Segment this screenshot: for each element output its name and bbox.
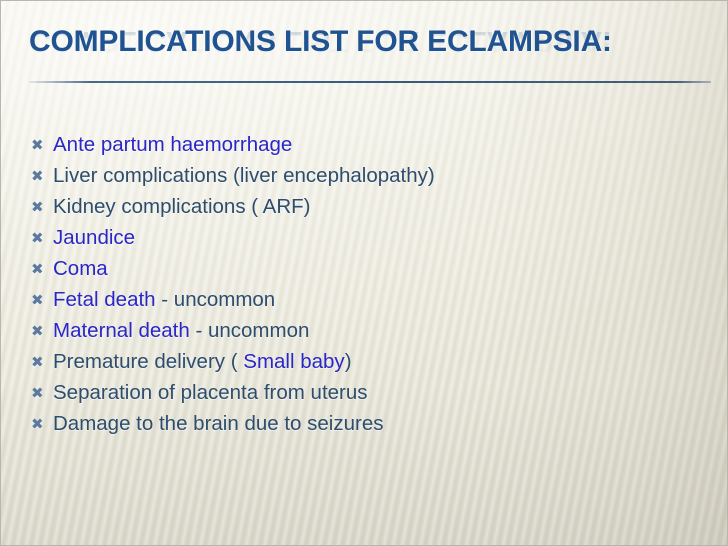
bullet-star-icon: ✖ [31,131,53,159]
list-item: ✖Fetal death - uncommon [31,286,691,317]
list-item-text-segment: Kidney complications ( ARF) [53,195,310,218]
list-item-text-segment: Premature delivery ( [53,350,243,373]
list-item-label: Maternal death - uncommon [53,317,691,345]
list-item: ✖Kidney complications ( ARF) [31,193,691,224]
list-item-label: Liver complications (liver encephalopath… [53,162,691,190]
list-item-text-segment: Ante partum haemorrhage [53,133,292,156]
slide-title-block: COMPLICATIONS LIST FOR ECLAMPSIA: COMPLI… [29,25,701,87]
list-item-text-segment: Small baby [243,350,344,373]
bullet-star-icon: ✖ [31,410,53,438]
title-underline-rule [29,81,711,83]
list-item-text-segment: Fetal death [53,288,156,311]
list-item-text-segment: ) [345,350,352,373]
list-item: ✖Liver complications (liver encephalopat… [31,162,691,193]
list-item-text-segment: Jaundice [53,226,135,249]
list-item-label: Coma [53,255,691,283]
list-item-label: Kidney complications ( ARF) [53,193,691,221]
list-item: ✖Damage to the brain due to seizures [31,410,691,441]
list-item-label: Premature delivery ( Small baby) [53,348,691,376]
list-item: ✖Ante partum haemorrhage [31,131,691,162]
list-item: ✖Maternal death - uncommon [31,317,691,348]
bullet-star-icon: ✖ [31,379,53,407]
bullet-star-icon: ✖ [31,286,53,314]
list-item-label: Jaundice [53,224,691,252]
list-item-label: Ante partum haemorrhage [53,131,691,159]
list-item-text-segment: Coma [53,257,108,280]
slide-title: COMPLICATIONS LIST FOR ECLAMPSIA: [29,25,612,59]
list-item-label: Fetal death - uncommon [53,286,691,314]
list-item-text-segment: Maternal death [53,319,190,342]
bullet-star-icon: ✖ [31,317,53,345]
bullet-star-icon: ✖ [31,224,53,252]
list-item-text-segment: - uncommon [190,319,310,342]
bullet-star-icon: ✖ [31,255,53,283]
list-item-text-segment: Separation of placenta from uterus [53,381,368,404]
list-item: ✖Jaundice [31,224,691,255]
list-item-text-segment: - uncommon [156,288,276,311]
bullet-star-icon: ✖ [31,348,53,376]
list-item-text-segment: Liver complications (liver encephalopath… [53,164,435,187]
list-item-text-segment: Damage to the brain due to seizures [53,412,383,435]
list-item: ✖Coma [31,255,691,286]
complications-bullet-list: ✖Ante partum haemorrhage✖Liver complicat… [31,131,691,441]
list-item: ✖Separation of placenta from uterus [31,379,691,410]
bullet-star-icon: ✖ [31,193,53,221]
list-item: ✖Premature delivery ( Small baby) [31,348,691,379]
list-item-label: Damage to the brain due to seizures [53,410,691,438]
list-item-label: Separation of placenta from uterus [53,379,691,407]
presentation-slide: COMPLICATIONS LIST FOR ECLAMPSIA: COMPLI… [0,0,728,546]
bullet-star-icon: ✖ [31,162,53,190]
